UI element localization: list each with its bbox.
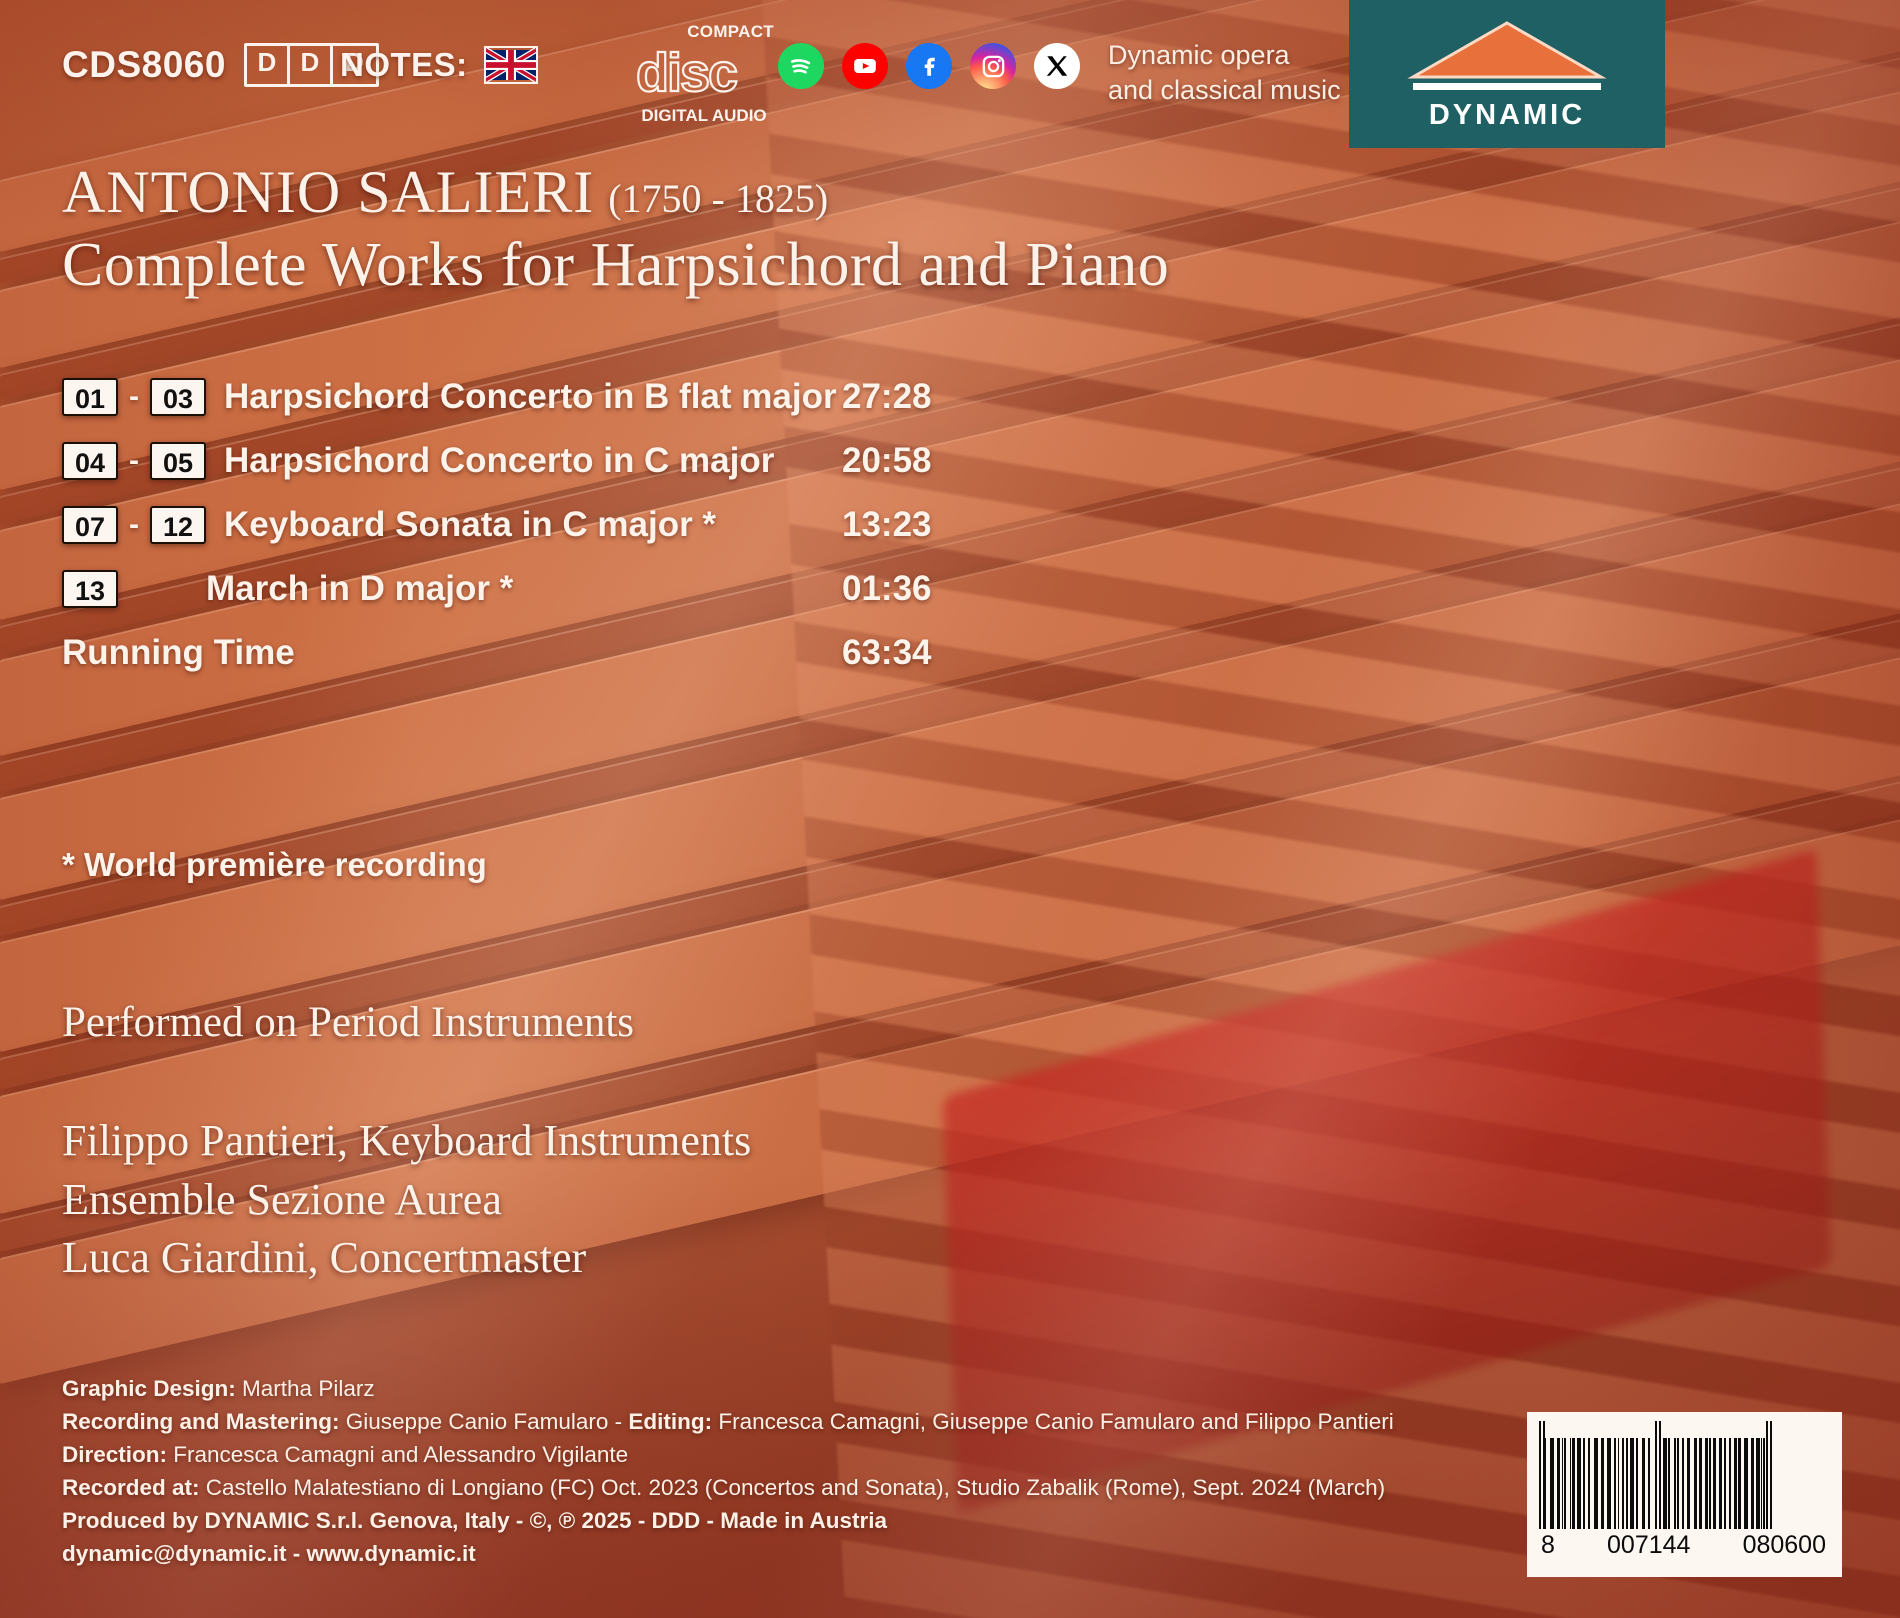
running-time-row: Running Time 63:34 [62, 624, 1122, 682]
track-list: 01 - 03 Harpsichord Concerto in B flat m… [62, 368, 1122, 688]
performer-line: Filippo Pantieri, Keyboard Instruments [62, 1112, 751, 1171]
track-title: Keyboard Sonata in C major * [224, 505, 716, 545]
track-number-from: 13 [62, 570, 118, 608]
track-range-dash: - [118, 444, 150, 478]
running-time-label: Running Time [62, 633, 295, 673]
credit-value-editing: Francesca Camagni, Giuseppe Canio Famula… [712, 1409, 1394, 1434]
dynamic-label-name: DYNAMIC [1429, 99, 1585, 132]
ddd-letter: D [290, 46, 333, 84]
label-tagline: Dynamic opera and classical music [1108, 38, 1341, 108]
barcode-number: 8 007144 080600 [1539, 1529, 1830, 1560]
track-range-dash: - [118, 508, 150, 542]
composer-name: ANTONIO SALIERI [62, 158, 594, 227]
track-duration: 20:58 [842, 441, 932, 481]
credit-label-editing: Editing: [628, 1409, 712, 1434]
credit-label-recorded-at: Recorded at: [62, 1475, 200, 1500]
youtube-icon[interactable] [842, 43, 888, 89]
composer-years: (1750 - 1825) [608, 175, 828, 222]
credit-label-graphic-design: Graphic Design: [62, 1376, 236, 1401]
barcode-left-digit: 8 [1541, 1531, 1555, 1560]
track-duration: 27:28 [842, 377, 932, 417]
credits-block: Graphic Design: Martha Pilarz Recording … [62, 1372, 1252, 1570]
track-number-to: 12 [150, 506, 206, 544]
barcode-group-1: 007144 [1607, 1531, 1690, 1560]
track-range-dash: - [118, 380, 150, 414]
dynamic-label-logo: DYNAMIC [1349, 0, 1665, 148]
track-number-from: 01 [62, 378, 118, 416]
barcode: 8 007144 080600 [1527, 1412, 1842, 1577]
notes-label: NOTES: [340, 46, 468, 84]
ddd-letter: D [247, 46, 290, 84]
barcode-group-2: 080600 [1743, 1531, 1826, 1560]
credit-line-produced-by: Produced by DYNAMIC S.r.l. Genova, Italy… [62, 1504, 1252, 1537]
header-bar: CDS8060 D D D NOTES: COMPACT disc DIGITA… [0, 0, 1900, 148]
credit-value-recording: Giuseppe Canio Famularo - [340, 1409, 629, 1434]
track-number-from: 07 [62, 506, 118, 544]
track-number-to: 05 [150, 442, 206, 480]
credit-label-recording: Recording and Mastering: [62, 1409, 340, 1434]
track-number-from: 04 [62, 442, 118, 480]
triangle-mountain-icon [1407, 17, 1607, 95]
credit-contact[interactable]: dynamic@dynamic.it - www.dynamic.it [62, 1541, 476, 1566]
spotify-icon[interactable] [778, 43, 824, 89]
work-title: Complete Works for Harpsichord and Piano [62, 230, 1169, 301]
track-title: Harpsichord Concerto in C major [224, 441, 774, 481]
performer-line: Luca Giardini, Concertmaster [62, 1229, 751, 1288]
credit-value-graphic-design: Martha Pilarz [236, 1376, 375, 1401]
credit-line-direction: Direction: Francesca Camagni and Alessan… [62, 1438, 1252, 1471]
track-title: Harpsichord Concerto in B flat major [224, 377, 837, 417]
cd-logo-top-text: COMPACT [687, 22, 774, 42]
premiere-footnote: * World première recording [62, 846, 487, 884]
performers-list: Filippo Pantieri, Keyboard Instruments E… [62, 1112, 751, 1288]
track-row: 01 - 03 Harpsichord Concerto in B flat m… [62, 368, 1122, 426]
barcode-bars [1539, 1421, 1830, 1529]
social-icons [778, 43, 1080, 89]
credit-line-recording: Recording and Mastering: Giuseppe Canio … [62, 1405, 1252, 1438]
notes-language-block: NOTES: [340, 46, 538, 84]
track-row: 04 - 05 Harpsichord Concerto in C major … [62, 432, 1122, 490]
credit-line-graphic-design: Graphic Design: Martha Pilarz [62, 1372, 1252, 1405]
track-duration: 13:23 [842, 505, 932, 545]
cd-back-cover: CDS8060 D D D NOTES: COMPACT disc DIGITA… [0, 0, 1900, 1618]
instagram-icon[interactable] [970, 43, 1016, 89]
uk-flag-icon [484, 46, 538, 84]
credit-value-direction: Francesca Camagni and Alessandro Vigilan… [167, 1442, 628, 1467]
credit-line-contact[interactable]: dynamic@dynamic.it - www.dynamic.it [62, 1537, 1252, 1570]
track-row: 07 - 12 Keyboard Sonata in C major * 13:… [62, 496, 1122, 554]
track-duration: 01:36 [842, 569, 932, 609]
running-time-value: 63:34 [842, 633, 932, 673]
performer-line: Ensemble Sezione Aurea [62, 1171, 751, 1230]
facebook-icon[interactable] [906, 43, 952, 89]
track-title: March in D major * [206, 569, 513, 609]
catalog-block: CDS8060 D D D [62, 43, 379, 87]
compact-disc-logo: COMPACT disc DIGITAL AUDIO [634, 22, 774, 126]
catalog-number: CDS8060 [62, 44, 226, 86]
credit-produced-by: Produced by DYNAMIC S.r.l. Genova, Italy… [62, 1508, 887, 1533]
credit-label-direction: Direction: [62, 1442, 167, 1467]
track-number-to: 03 [150, 378, 206, 416]
performed-on-heading: Performed on Period Instruments [62, 998, 634, 1047]
cd-logo-bottom-text: DIGITAL AUDIO [634, 106, 774, 126]
cd-logo-disc-text: disc [636, 42, 736, 104]
composer-line: ANTONIO SALIERI (1750 - 1825) [62, 158, 828, 227]
credit-line-recorded-at: Recorded at: Castello Malatestiano di Lo… [62, 1471, 1252, 1504]
x-icon[interactable] [1034, 43, 1080, 89]
credit-value-recorded-at: Castello Malatestiano di Longiano (FC) O… [200, 1475, 1386, 1500]
track-row: 13 March in D major * 01:36 [62, 560, 1122, 618]
